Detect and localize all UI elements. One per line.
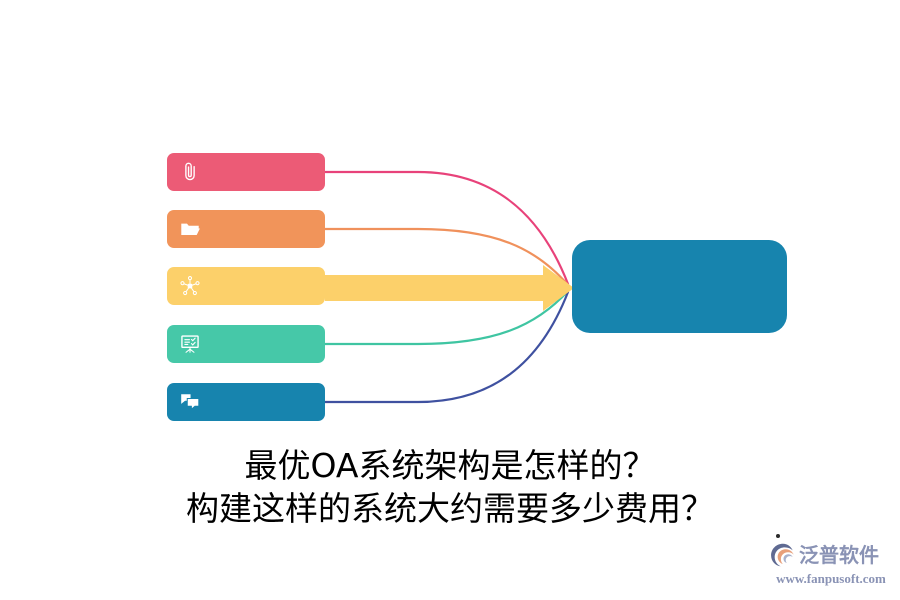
folder-open-icon [179,218,201,240]
logo-name: 泛普软件 [799,542,879,568]
connector-chat [325,292,568,402]
brand-logo: 泛普软件 www.fanpusoft.com [770,540,892,592]
node-bar-attachment[interactable] [167,153,325,191]
hub-box[interactable] [572,240,787,333]
caption-line-1: 最优OA系统架构是怎样的？ [0,444,900,487]
logo-dot [776,534,780,538]
screenshot-canvas: 最优OA系统架构是怎样的？ 构建这样的系统大约需要多少费用？ 泛普软件 www.… [0,0,900,600]
network-hub-icon [179,275,201,297]
connector-attachment [325,172,568,284]
presentation-board-icon [179,333,201,355]
connector-network-arrow [325,265,574,311]
node-bar-network[interactable] [167,267,325,305]
caption-block: 最优OA系统架构是怎样的？ 构建这样的系统大约需要多少费用？ [0,444,900,530]
paperclip-icon [179,161,201,183]
logo-url: www.fanpusoft.com [770,571,892,586]
connector-layer [0,0,900,440]
logo-row: 泛普软件 [770,540,892,570]
node-bar-chat[interactable] [167,383,325,421]
convergence-diagram [0,0,900,440]
node-bar-documents[interactable] [167,210,325,248]
fanpu-logo-mark [770,542,797,568]
node-bar-presentation[interactable] [167,325,325,363]
connector-presentation [325,291,568,344]
connector-documents [325,229,568,285]
chat-bubbles-icon [179,391,201,413]
caption-line-2: 构建这样的系统大约需要多少费用？ [0,487,900,530]
